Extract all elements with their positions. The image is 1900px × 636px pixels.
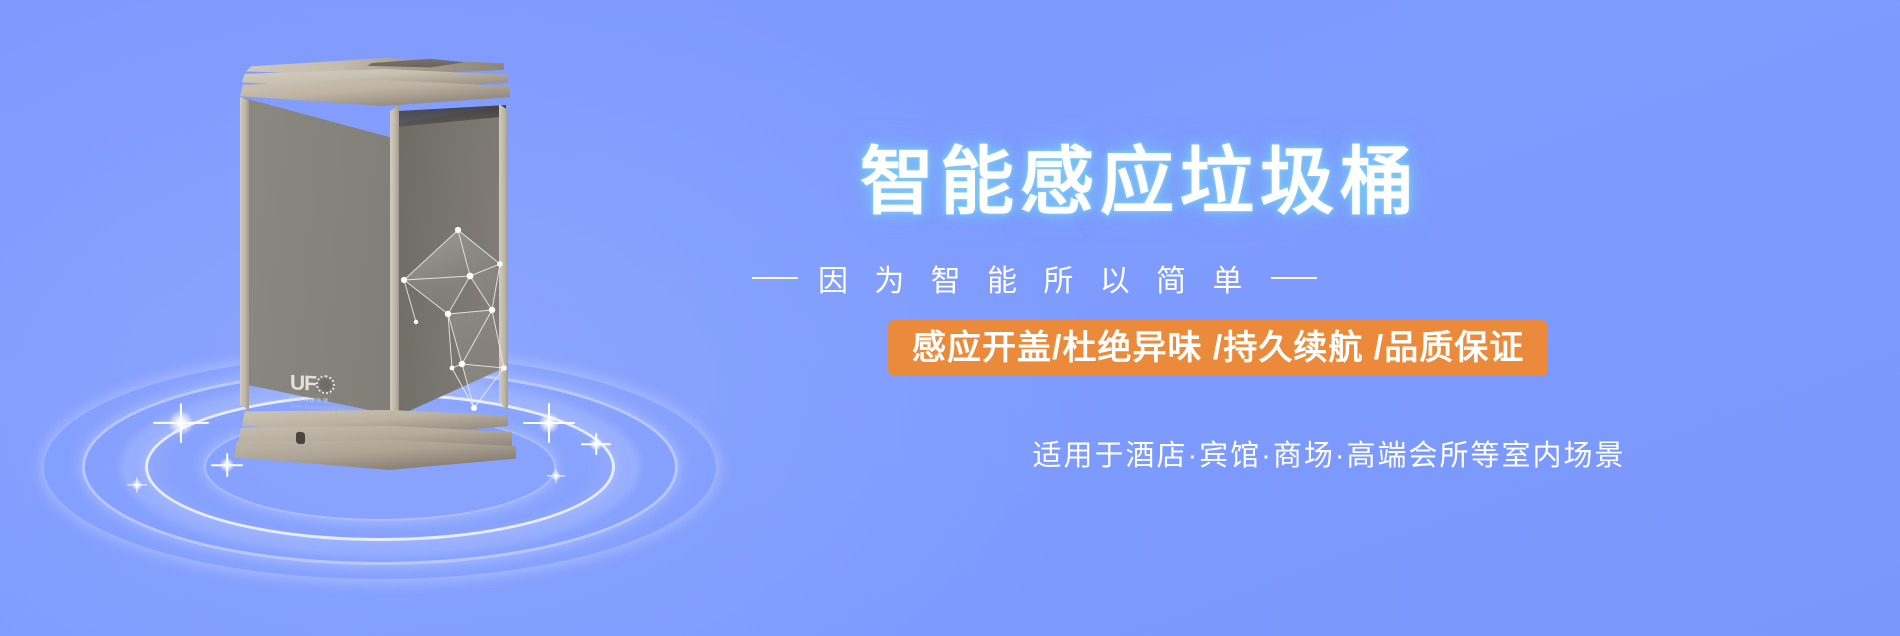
promo-banner: UF 智能科技环保 SMART SENSOR TRASH BIN 智能感应垃圾桶… (0, 0, 1900, 636)
usage-scenarios-text: 适用于酒店·宾馆·商场·高端会所等室内场景 (1015, 432, 1626, 474)
logo-o-ring-icon (316, 375, 335, 395)
product-illustration: UF 智能科技环保 SMART SENSOR TRASH BIN (0, 0, 760, 636)
plinth-tier-3 (234, 440, 516, 470)
polygon-network-graphic (396, 218, 508, 418)
banner-title: 智能感应垃圾桶 (860, 122, 1420, 229)
bin-face-left (244, 98, 398, 416)
feature-badge-text: 感应开盖/杜绝异味 /持久续航 /品质保证 (912, 331, 1524, 365)
network-svg (396, 218, 508, 418)
logo-chinese-tagline: 智能科技环保 (290, 395, 330, 404)
bin-lid (238, 58, 510, 104)
banner-subtitle: 因 为 智 能 所 以 简 单 (752, 256, 1900, 300)
feature-badge: 感应开盖/杜绝异味 /持久续航 /品质保证 (888, 320, 1548, 376)
sparkle-icon-left (152, 394, 210, 452)
plinth-sensor-slot (296, 432, 305, 445)
bin-base-plinth (234, 410, 516, 472)
sparkle-icon-small-right (580, 428, 612, 460)
trash-bin: UF 智能科技环保 SMART SENSOR TRASH BIN (238, 58, 510, 458)
subtitle-text: 因 为 智 能 所 以 简 单 (818, 256, 1251, 300)
logo-wordmark: UF (290, 372, 316, 394)
subtitle-rule-left (752, 277, 798, 279)
banner-copy: 智能感应垃圾桶 因 为 智 能 所 以 简 单 感应开盖/杜绝异味 /持久续航 … (740, 0, 1900, 636)
sparkle-icon-tiny-right (546, 466, 566, 486)
sparkle-icon-tiny-left (126, 474, 148, 496)
bin-edge-left (240, 97, 249, 417)
sparkle-icon-right (522, 396, 576, 450)
subtitle-rule-right (1271, 277, 1317, 279)
usage-scenarios: 适用于酒店·宾馆·商场·高端会所等室内场景 (740, 432, 1900, 474)
